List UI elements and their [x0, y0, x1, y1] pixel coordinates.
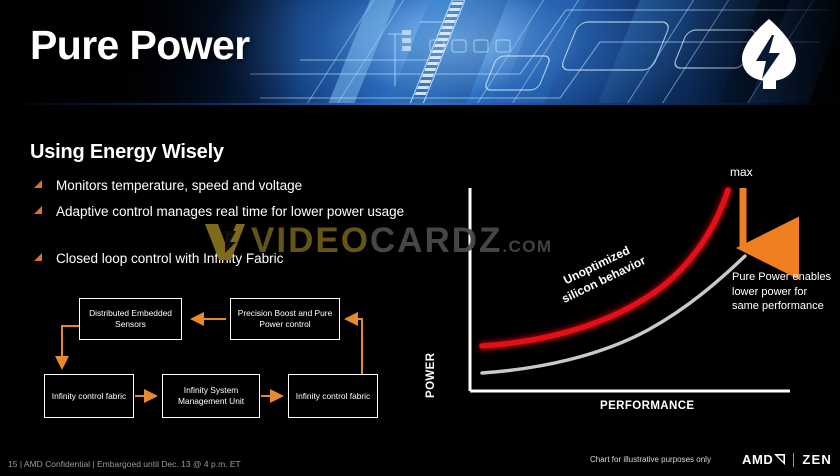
- section-heading: Using Energy Wisely: [30, 141, 224, 164]
- flow-box-label: Precision Boost and Pure Power control: [233, 308, 337, 330]
- bullet-triangle-icon: [34, 180, 42, 188]
- bullet-triangle-icon: [34, 253, 42, 261]
- amd-zen-logo: AMD ZEN: [742, 452, 832, 467]
- amd-arrow-icon: [774, 454, 785, 465]
- footer-chart-disclaimer: Chart for illustrative purposes only: [590, 455, 711, 464]
- chart-x-axis-label: PERFORMANCE: [600, 400, 695, 412]
- bullet-text: Closed loop control with Infinity Fabric: [56, 250, 424, 267]
- flow-box-precision-boost-and-pure-power-control: Precision Boost and Pure Power control: [230, 298, 340, 340]
- flow-box-infinity-system-management-unit: Infinity System Management Unit: [162, 374, 260, 418]
- page-title: Pure Power: [30, 22, 250, 69]
- flow-box-label: Infinity control fabric: [52, 391, 126, 402]
- control-loop-flowchart: Distributed Embedded Sensors Precision B…: [22, 296, 402, 422]
- flow-box-infinity-control-fabric-right: Infinity control fabric: [288, 374, 378, 418]
- bullet-item: Adaptive control manages real time for l…: [34, 203, 424, 220]
- bullet-triangle-icon: [34, 206, 42, 214]
- arrow-icf2-to-precision: [346, 319, 362, 374]
- slide-header-banner: Pure Power: [0, 0, 840, 108]
- pure-power-note: Pure Power enables lower power for same …: [732, 270, 837, 314]
- bullet-text: Adaptive control manages real time for l…: [56, 203, 424, 220]
- chart-y-axis-label: POWER: [425, 353, 437, 398]
- power-vs-performance-chart: POWER PERFORMANCE max Unoptimizedsilicon…: [440, 160, 840, 430]
- max-label: max: [730, 165, 753, 179]
- logo-divider: [793, 453, 794, 467]
- flow-box-label: Distributed Embedded Sensors: [82, 308, 179, 330]
- flow-box-label: Infinity System Management Unit: [165, 385, 257, 407]
- zen-wordmark: ZEN: [802, 452, 832, 467]
- bullet-item: Closed loop control with Infinity Fabric: [34, 250, 424, 267]
- arrow-sensors-to-icf1: [62, 326, 79, 368]
- slide: Pure Power Using Energy Wisely Monitors …: [0, 0, 840, 476]
- flow-box-infinity-control-fabric-left: Infinity control fabric: [44, 374, 134, 418]
- amd-wordmark: AMD: [742, 452, 773, 467]
- leaf-lightning-icon: [736, 17, 802, 91]
- footer-confidential-text: 15 | AMD Confidential | Embargoed until …: [8, 459, 241, 469]
- bullet-item: Monitors temperature, speed and voltage: [34, 177, 424, 194]
- flow-box-label: Infinity control fabric: [296, 391, 370, 402]
- flow-box-distributed-embedded-sensors: Distributed Embedded Sensors: [79, 298, 182, 340]
- header-bottom-edge: [0, 105, 840, 108]
- bullet-text: Monitors temperature, speed and voltage: [56, 177, 424, 194]
